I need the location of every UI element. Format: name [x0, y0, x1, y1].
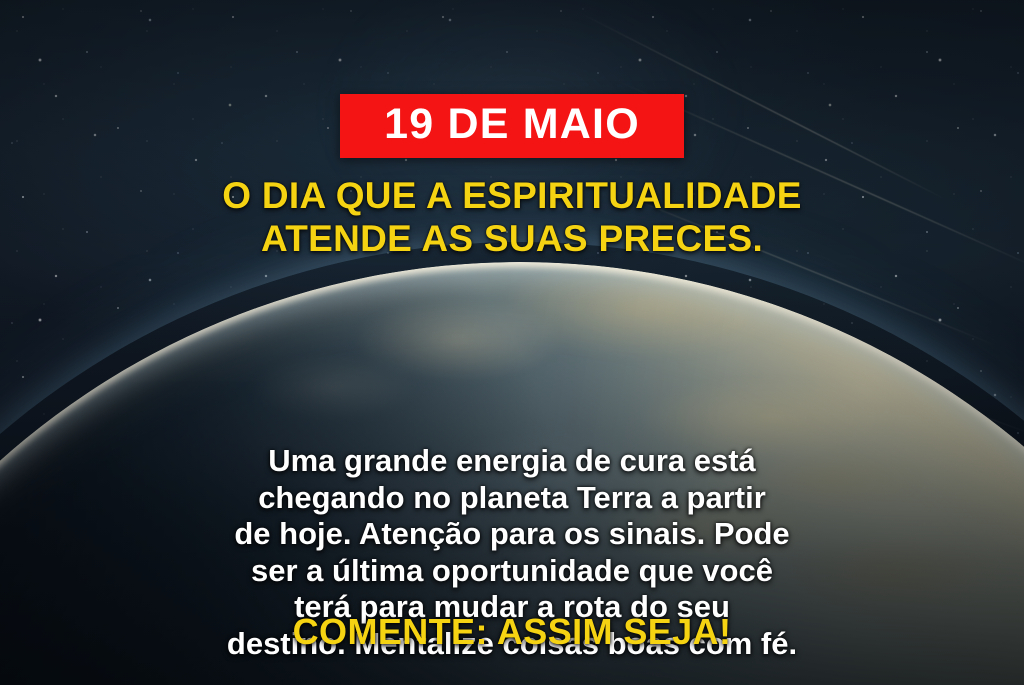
body-line-2: chegando no planeta Terra a partir — [72, 480, 952, 517]
call-to-action-text: COMENTE: ASSIM SEJA! — [293, 611, 732, 653]
body-line-4: ser a última oportunidade que você — [72, 553, 952, 590]
body-line-1: Uma grande energia de cura está — [72, 443, 952, 480]
headline: O DIA QUE A ESPIRITUALIDADE ATENDE AS SU… — [222, 175, 802, 261]
date-badge: 19 DE MAIO — [340, 94, 684, 158]
headline-line-1: O DIA QUE A ESPIRITUALIDADE — [222, 175, 802, 218]
body-line-3: de hoje. Atenção para os sinais. Pode — [72, 516, 952, 553]
poster-canvas: 19 DE MAIO O DIA QUE A ESPIRITUALIDADE A… — [0, 0, 1024, 685]
headline-line-2: ATENDE AS SUAS PRECES. — [222, 218, 802, 261]
